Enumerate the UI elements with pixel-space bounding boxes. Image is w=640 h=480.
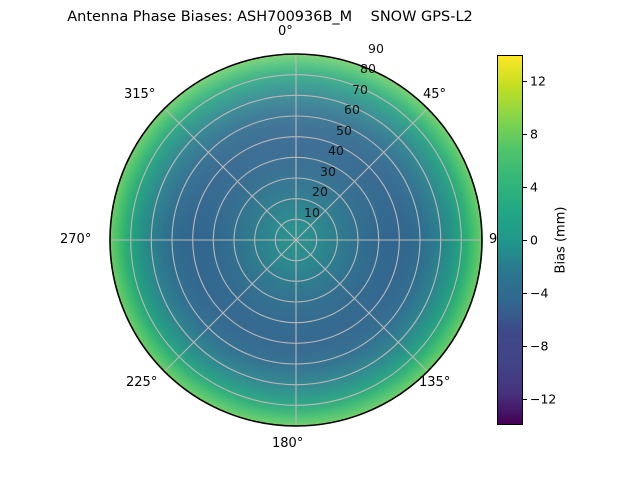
polar-plot-svg [108,52,484,428]
colorbar-tickmark-minus4 [523,293,527,294]
colorbar-ticklabel-minus8: −8 [530,339,548,352]
colorbar-ticklabel-minus12: −12 [530,392,556,405]
figure-canvas: Antenna Phase Biases: ASH700936B_M SNOW … [0,0,640,480]
r-label-50: 50 [336,124,352,137]
r-label-80: 80 [360,62,376,75]
r-label-10: 10 [304,206,320,219]
r-label-90: 90 [368,42,384,55]
colorbar-tickmark-8 [523,134,527,135]
theta-label-225: 225° [126,376,157,390]
colorbar-ticklabel-12: 12 [530,75,546,88]
theta-label-180: 180° [272,437,303,451]
r-label-60: 60 [344,103,360,116]
colorbar-tickmark-12 [523,81,527,82]
colorbar-tickmark-4 [523,187,527,188]
polar-axes[interactable]: 0° 45° 90 135° 180° 225° 270° 315° 10 20… [108,52,484,428]
colorbar-ticklabel-minus4: −4 [530,286,548,299]
colorbar-axes[interactable]: 12 8 4 0 −4 −8 −12 [497,55,523,425]
colorbar-tickmark-minus8 [523,346,527,347]
colorbar-ticklabel-4: 4 [530,181,538,194]
colorbar-tickmark-minus12 [523,399,527,400]
theta-label-315: 315° [124,88,155,102]
colorbar-ticklabel-0: 0 [530,234,538,247]
r-label-40: 40 [328,144,344,157]
theta-label-270: 270° [60,233,91,247]
theta-label-45: 45° [423,88,446,102]
colorbar-axis-label: Bias (mm) [554,207,569,274]
page-title: Antenna Phase Biases: ASH700936B_M SNOW … [0,8,540,26]
r-label-30: 30 [320,165,336,178]
r-label-70: 70 [352,83,368,96]
colorbar-tickmark-0 [523,240,527,241]
theta-label-0: 0° [278,25,293,39]
colorbar-ticklabel-8: 8 [530,128,538,141]
theta-label-135: 135° [419,376,450,390]
colorbar-gradient [497,55,523,425]
r-label-20: 20 [312,185,328,198]
polar-grid-spokes [110,54,482,426]
